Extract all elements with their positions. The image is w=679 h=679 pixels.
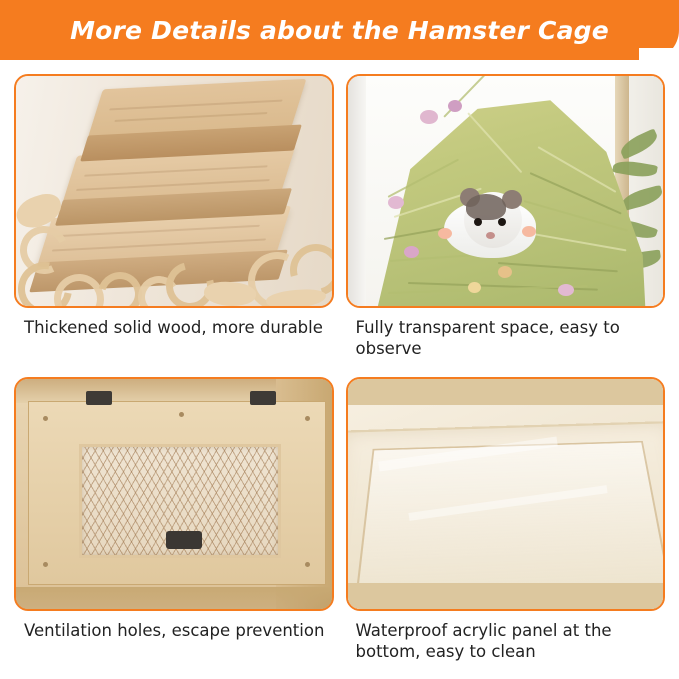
cage-wood-edge-top xyxy=(348,379,664,405)
screw-dot xyxy=(179,412,184,417)
door-latch xyxy=(166,531,202,549)
feature-caption: Fully transparent space, easy to observe xyxy=(346,317,666,359)
cage-wood-edge-bottom xyxy=(348,583,664,609)
feature-caption: Ventilation holes, escape prevention xyxy=(14,620,334,641)
hamster-paw-right xyxy=(522,226,536,237)
cage-door-panel xyxy=(28,401,326,585)
screw-dot xyxy=(43,562,48,567)
dried-flower xyxy=(388,196,404,209)
feature-card-grid: Thickened solid wood, more durable xyxy=(0,62,679,679)
cage-bottom-rail xyxy=(16,587,332,609)
dried-flower xyxy=(498,266,512,278)
dried-flower xyxy=(420,110,438,124)
screw-dot xyxy=(305,562,310,567)
hamster-head-patch xyxy=(466,194,506,220)
dried-flower xyxy=(448,100,462,112)
page-header-banner: More Details about the Hamster Cage xyxy=(0,0,679,60)
hamster-eye-left xyxy=(474,218,482,226)
dried-flower xyxy=(558,284,574,296)
photo-acrylic-panel xyxy=(346,377,666,611)
hamster-eye-right xyxy=(498,218,506,226)
product-detail-page: More Details about the Hamster Cage xyxy=(0,0,679,679)
photo-transparent-space xyxy=(346,74,666,308)
photo-solid-wood xyxy=(14,74,334,308)
screw-dot xyxy=(43,416,48,421)
dried-flower xyxy=(468,282,481,293)
screw-dot xyxy=(305,416,310,421)
photo-ventilation-door xyxy=(14,377,334,611)
feature-card-ventilation: Ventilation holes, escape prevention xyxy=(14,377,334,674)
door-hinge-right xyxy=(250,391,276,405)
feature-card-solid-wood: Thickened solid wood, more durable xyxy=(14,74,334,371)
dried-flower xyxy=(404,246,419,258)
plant-leaf xyxy=(620,185,665,211)
feature-card-transparent-space: Fully transparent space, easy to observe xyxy=(346,74,666,371)
plant-leaf xyxy=(612,158,658,179)
feature-card-acrylic-panel: Waterproof acrylic panel at the bottom, … xyxy=(346,377,666,674)
hamster xyxy=(444,188,536,262)
door-hinge-left xyxy=(86,391,112,405)
page-title: More Details about the Hamster Cage xyxy=(70,16,609,45)
feature-caption: Thickened solid wood, more durable xyxy=(14,317,334,338)
cage-frame-left xyxy=(348,76,366,306)
hamster-nose xyxy=(486,232,495,239)
feature-caption: Waterproof acrylic panel at the bottom, … xyxy=(346,620,666,662)
hamster-paw-left xyxy=(438,228,452,239)
